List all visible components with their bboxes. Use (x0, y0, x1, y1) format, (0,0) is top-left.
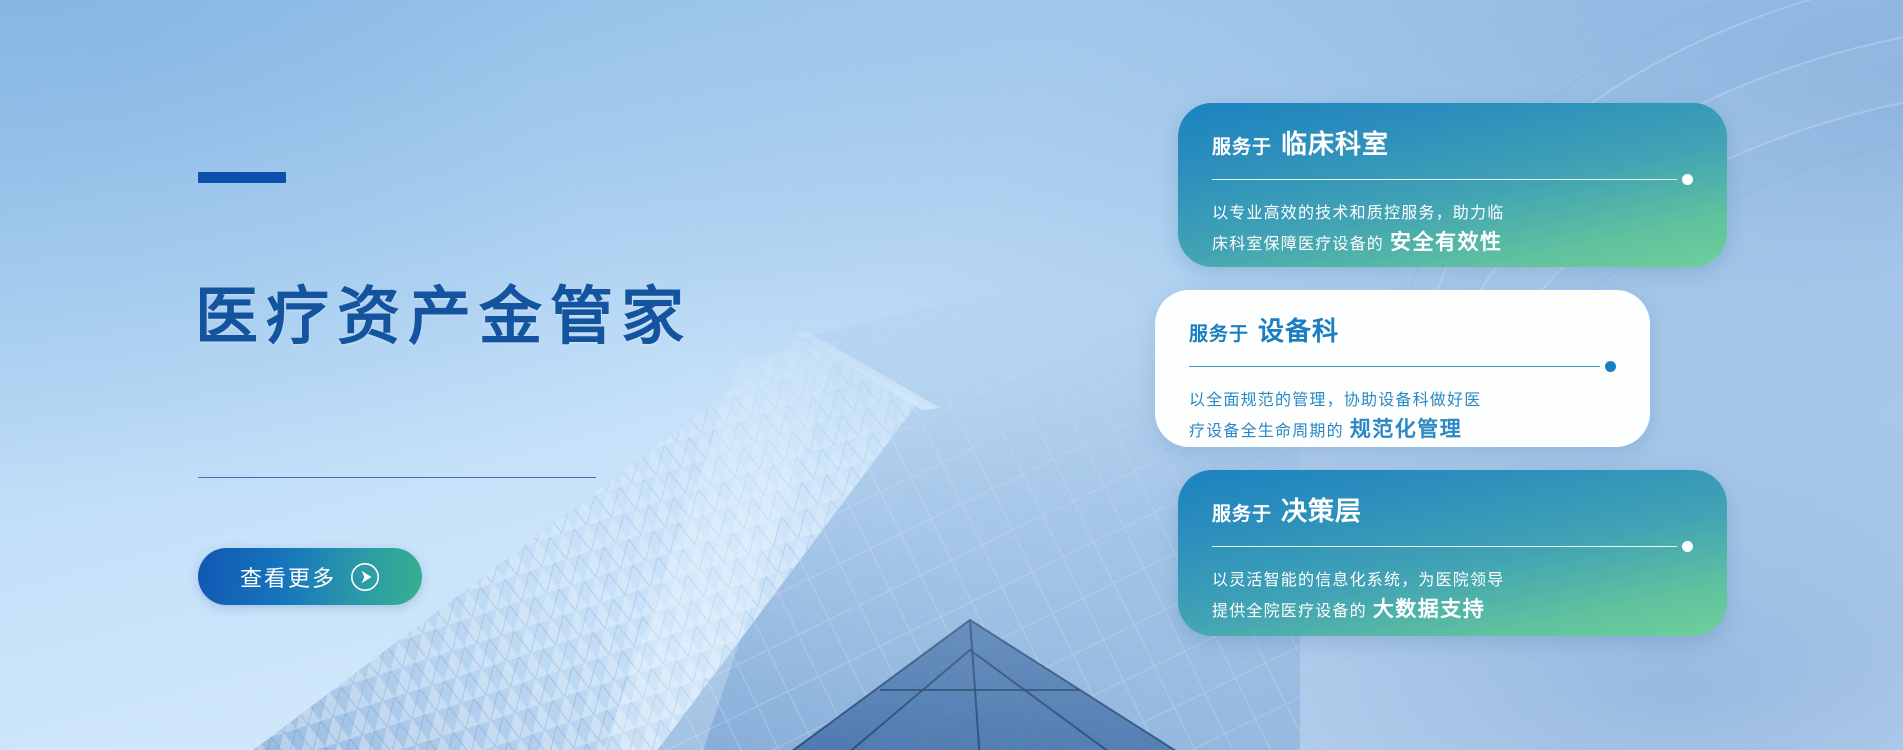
service-card-clinical[interactable]: 服务于 临床科室 以专业高效的技术和质控服务，助力临 床科室保障医疗设备的安全有… (1178, 103, 1727, 267)
card-body-line2: 床科室保障医疗设备的安全有效性 (1212, 228, 1693, 259)
hero-left-column: 医疗资产金管家 查看更多 (198, 0, 818, 750)
card-emphasis: 大数据支持 (1367, 598, 1486, 621)
card-body-line1: 以专业高效的技术和质控服务，助力临 (1212, 199, 1693, 228)
card-body: 以全面规范的管理，协助设备科做好医 疗设备全生命周期的规范化管理 (1189, 386, 1616, 446)
view-more-button[interactable]: 查看更多 (198, 548, 422, 605)
timeline-dot-icon (1682, 541, 1693, 552)
card-body-line1: 以全面规范的管理，协助设备科做好医 (1189, 386, 1616, 415)
card-title: 服务于 临床科室 (1212, 131, 1693, 157)
card-separator (1212, 174, 1693, 185)
card-body: 以专业高效的技术和质控服务，助力临 床科室保障医疗设备的安全有效性 (1212, 199, 1693, 259)
separator-line (1212, 179, 1677, 180)
card-keyword: 设备科 (1258, 318, 1339, 344)
play-circle-icon (350, 562, 380, 592)
card-body-line1: 以灵活智能的信息化系统，为医院领导 (1212, 566, 1693, 595)
card-emphasis: 安全有效性 (1384, 231, 1503, 254)
card-separator (1189, 361, 1616, 372)
card-emphasis: 规范化管理 (1344, 418, 1463, 441)
hero-banner: 医疗资产金管家 查看更多 服务于 临床科室 以专业高效的技术和质控服务，助力临 (0, 0, 1903, 750)
dash-accent-icon (198, 172, 286, 183)
card-body: 以灵活智能的信息化系统，为医院领导 提供全院医疗设备的大数据支持 (1212, 566, 1693, 626)
card-keyword: 临床科室 (1281, 131, 1389, 157)
card-prefix: 服务于 (1189, 325, 1249, 344)
separator-line (1189, 366, 1600, 367)
card-body-line2: 提供全院医疗设备的大数据支持 (1212, 595, 1693, 626)
timeline-dot-icon (1605, 361, 1616, 372)
card-title: 服务于 设备科 (1189, 318, 1616, 344)
card-body-line2: 疗设备全生命周期的规范化管理 (1189, 415, 1616, 446)
card-keyword: 决策层 (1281, 498, 1362, 524)
card-title: 服务于 决策层 (1212, 498, 1693, 524)
service-card-decision-makers[interactable]: 服务于 决策层 以灵活智能的信息化系统，为医院领导 提供全院医疗设备的大数据支持 (1178, 470, 1727, 636)
card-separator (1212, 541, 1693, 552)
page-title: 医疗资产金管家 (195, 286, 692, 349)
service-card-equipment-dept[interactable]: 服务于 设备科 以全面规范的管理，协助设备科做好医 疗设备全生命周期的规范化管理 (1155, 290, 1650, 447)
view-more-label: 查看更多 (240, 561, 336, 593)
timeline-dot-icon (1682, 174, 1693, 185)
service-cards: 服务于 临床科室 以专业高效的技术和质控服务，助力临 床科室保障医疗设备的安全有… (1143, 0, 1903, 750)
card-prefix: 服务于 (1212, 138, 1272, 157)
card-prefix: 服务于 (1212, 505, 1272, 524)
separator-line (1212, 546, 1677, 547)
hero-divider (198, 477, 596, 478)
